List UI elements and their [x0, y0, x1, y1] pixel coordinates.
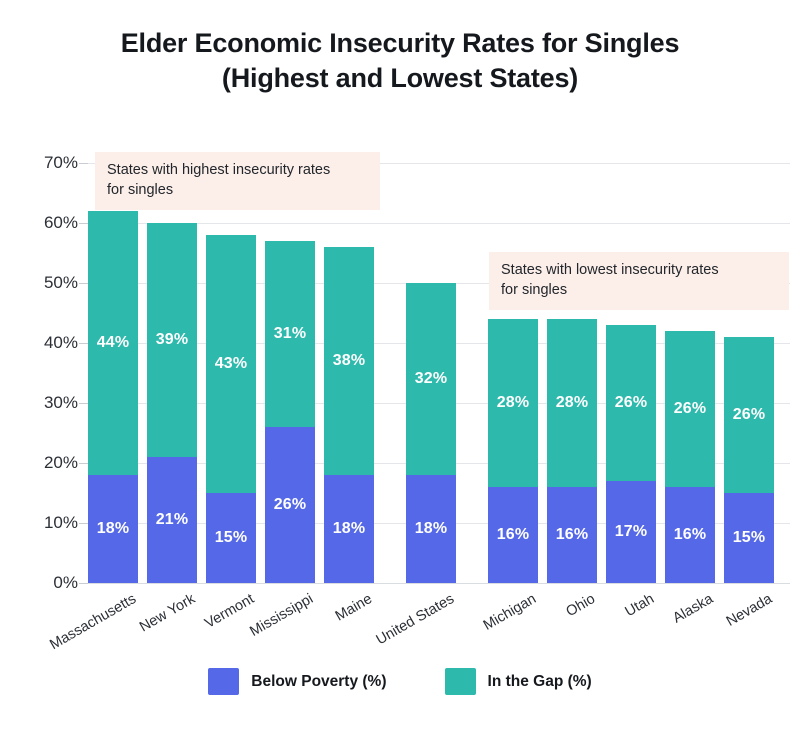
bar-value-label: 18%: [415, 520, 448, 538]
bar-segment-in-the-gap[interactable]: 38%: [324, 247, 374, 475]
bar-segment-below-poverty[interactable]: 15%: [206, 493, 256, 583]
bar-value-label: 21%: [156, 511, 189, 529]
y-axis-tick-label: 10%: [18, 513, 78, 533]
bar-segment-below-poverty[interactable]: 18%: [324, 475, 374, 583]
bar-value-label: 26%: [615, 394, 648, 412]
y-axis-tick-mark: [79, 163, 88, 164]
bar-value-label: 16%: [674, 526, 707, 544]
bar-value-label: 28%: [556, 394, 589, 412]
bar-segment-in-the-gap[interactable]: 28%: [547, 319, 597, 487]
y-axis-tick-mark: [79, 583, 88, 584]
bar-segment-below-poverty[interactable]: 21%: [147, 457, 197, 583]
bar-value-label: 15%: [215, 529, 248, 547]
bar-group[interactable]: 18%38%: [324, 163, 374, 583]
bar-segment-in-the-gap[interactable]: 26%: [665, 331, 715, 487]
y-axis-tick-mark: [79, 343, 88, 344]
bar-segment-in-the-gap[interactable]: 39%: [147, 223, 197, 457]
bar-value-label: 39%: [156, 331, 189, 349]
bar-group[interactable]: 15%26%: [724, 163, 774, 583]
bar-value-label: 17%: [615, 523, 648, 541]
bar-segment-below-poverty[interactable]: 17%: [606, 481, 656, 583]
bar-group[interactable]: 16%26%: [665, 163, 715, 583]
bar-segment-below-poverty[interactable]: 26%: [265, 427, 315, 583]
bar-segment-below-poverty[interactable]: 18%: [406, 475, 456, 583]
bar-value-label: 26%: [674, 400, 707, 418]
legend-color-swatch: [445, 668, 476, 695]
bar-value-label: 16%: [556, 526, 589, 544]
bar-value-label: 31%: [274, 325, 307, 343]
bar-segment-in-the-gap[interactable]: 31%: [265, 241, 315, 427]
bar-value-label: 26%: [274, 496, 307, 514]
y-axis-tick-mark: [79, 463, 88, 464]
legend-item[interactable]: Below Poverty (%): [208, 668, 386, 695]
legend-label: Below Poverty (%): [251, 673, 386, 691]
bar-group[interactable]: 21%39%: [147, 163, 197, 583]
legend-color-swatch: [208, 668, 239, 695]
legend-item[interactable]: In the Gap (%): [445, 668, 592, 695]
bar-segment-below-poverty[interactable]: 15%: [724, 493, 774, 583]
bar-group[interactable]: 16%28%: [488, 163, 538, 583]
bar-value-label: 26%: [733, 406, 766, 424]
bar-segment-below-poverty[interactable]: 16%: [488, 487, 538, 583]
bar-value-label: 44%: [97, 334, 130, 352]
bar-segment-in-the-gap[interactable]: 26%: [724, 337, 774, 493]
legend-label: In the Gap (%): [488, 673, 592, 691]
bars-container: 18%44%21%39%15%43%26%31%18%38%18%32%16%2…: [88, 163, 790, 583]
y-axis-tick-label: 40%: [18, 333, 78, 353]
bar-value-label: 38%: [333, 352, 366, 370]
y-axis-tick-label: 0%: [18, 573, 78, 593]
bar-segment-in-the-gap[interactable]: 32%: [406, 283, 456, 475]
y-axis-tick-label: 30%: [18, 393, 78, 413]
y-axis-tick-label: 60%: [18, 213, 78, 233]
gridline: [88, 583, 790, 584]
bar-segment-in-the-gap[interactable]: 43%: [206, 235, 256, 493]
bar-group[interactable]: 15%43%: [206, 163, 256, 583]
chart-plot-area: 0%10%20%30%40%50%60%70% 18%44%21%39%15%4…: [0, 0, 800, 729]
chart-legend: Below Poverty (%)In the Gap (%): [0, 668, 800, 695]
bar-group[interactable]: 18%44%: [88, 163, 138, 583]
bar-segment-in-the-gap[interactable]: 44%: [88, 211, 138, 475]
bar-value-label: 16%: [497, 526, 530, 544]
bar-segment-in-the-gap[interactable]: 28%: [488, 319, 538, 487]
bar-segment-below-poverty[interactable]: 16%: [547, 487, 597, 583]
bar-segment-below-poverty[interactable]: 18%: [88, 475, 138, 583]
y-axis-tick-label: 20%: [18, 453, 78, 473]
y-axis-tick-mark: [79, 283, 88, 284]
bar-value-label: 28%: [497, 394, 530, 412]
y-axis-tick-mark: [79, 403, 88, 404]
annotation-highest-states: States with highest insecurity rates for…: [95, 152, 380, 210]
bar-value-label: 18%: [333, 520, 366, 538]
bar-group[interactable]: 17%26%: [606, 163, 656, 583]
bar-group[interactable]: 18%32%: [406, 163, 456, 583]
bar-value-label: 43%: [215, 355, 248, 373]
bar-value-label: 18%: [97, 520, 130, 538]
y-axis-tick-mark: [79, 523, 88, 524]
bar-group[interactable]: 16%28%: [547, 163, 597, 583]
bar-segment-below-poverty[interactable]: 16%: [665, 487, 715, 583]
y-axis-tick-label: 50%: [18, 273, 78, 293]
bar-value-label: 32%: [415, 370, 448, 388]
bar-group[interactable]: 26%31%: [265, 163, 315, 583]
y-axis-tick-label: 70%: [18, 153, 78, 173]
bar-segment-in-the-gap[interactable]: 26%: [606, 325, 656, 481]
annotation-lowest-states: States with lowest insecurity rates for …: [489, 252, 789, 310]
y-axis-tick-mark: [79, 223, 88, 224]
bar-value-label: 15%: [733, 529, 766, 547]
